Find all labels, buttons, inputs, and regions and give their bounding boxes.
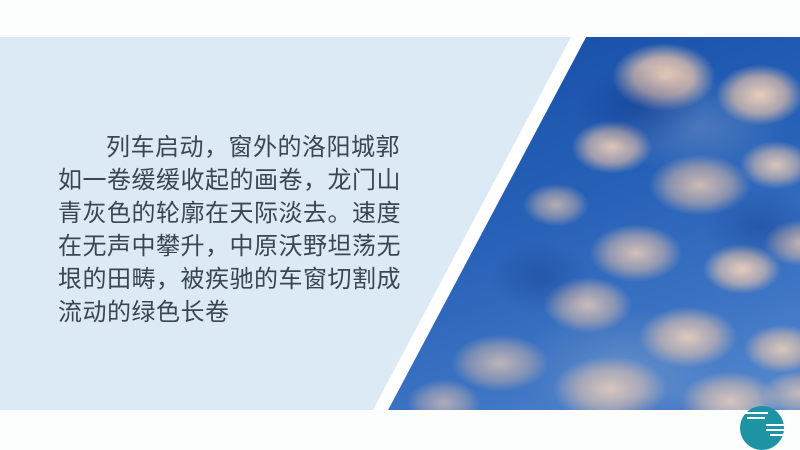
logo-stripe-1 — [744, 412, 768, 414]
slide-canvas: 列车启动，窗外的洛阳城郭如一卷缓缓收起的画卷，龙门山青灰色的轮廓在天际淡去。速度… — [0, 0, 800, 450]
logo-stripe-4 — [766, 429, 784, 431]
body-paragraph: 列车启动，窗外的洛阳城郭如一卷缓缓收起的画卷，龙门山青灰色的轮廓在天际淡去。速度… — [58, 131, 408, 329]
teal-circle-logo[interactable] — [740, 406, 784, 450]
logo-stripe-5 — [770, 434, 784, 436]
logo-stripe-2 — [747, 417, 765, 419]
logo-stripe-3 — [766, 424, 784, 426]
